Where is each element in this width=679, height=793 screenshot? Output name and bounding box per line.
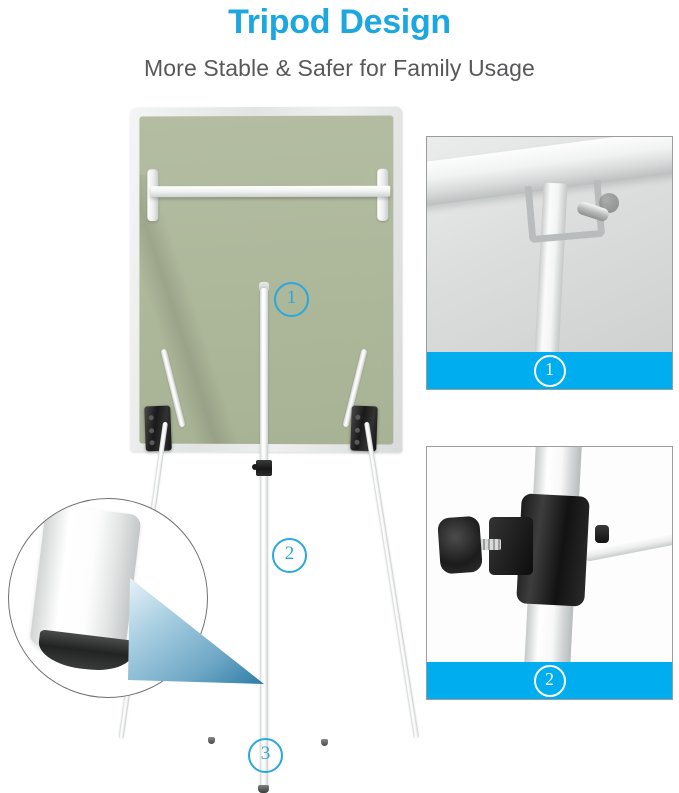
tripod-leg-foot-left (208, 737, 215, 744)
rivet-icon (355, 428, 360, 433)
hinge-bracket-left (144, 406, 172, 452)
centre-pole (260, 288, 268, 788)
callout-marker-1: 1 (274, 282, 309, 317)
rivet-icon (149, 428, 154, 433)
caption-badge-2: 2 (534, 665, 566, 697)
header: Tripod Design More Stable & Safer for Fa… (0, 0, 679, 96)
rivet-icon (149, 415, 154, 420)
caption-band-2: 2 (427, 662, 672, 699)
detail-panel-pole-bracket: 1 (426, 136, 673, 390)
tripod-leg-right (364, 422, 419, 739)
centre-pole-collar-clamp (256, 460, 272, 476)
rivet-icon (149, 440, 154, 445)
detail-photo-collar-clamp (427, 447, 672, 662)
strut-pin-icon (595, 525, 609, 543)
callout-marker-2: 2 (272, 538, 307, 573)
paper-clamp-bar (150, 186, 390, 197)
caption-band-1: 1 (427, 352, 672, 389)
board-shadow (139, 174, 270, 445)
rivet-icon (355, 415, 360, 420)
caption-badge-1: 1 (534, 355, 566, 387)
centre-pole-foot (258, 785, 269, 793)
clamp-knob-icon (437, 516, 483, 575)
page-subtitle: More Stable & Safer for Family Usage (0, 52, 679, 84)
detail-panel-collar-clamp: 2 (426, 446, 673, 700)
pointer-triangle-icon (128, 576, 264, 686)
page-title: Tripod Design (0, 1, 679, 43)
tripod-leg-foot-right (321, 739, 328, 746)
rivet-icon (354, 440, 359, 445)
detail-photo-pole-bracket (427, 137, 672, 352)
callout-marker-3: 3 (248, 738, 283, 773)
